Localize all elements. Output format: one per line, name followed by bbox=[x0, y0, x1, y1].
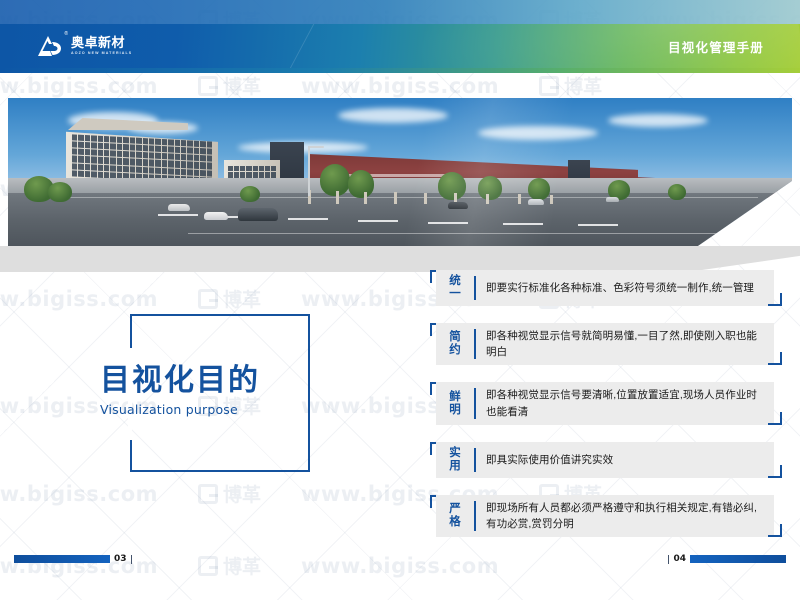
bracket-bottom-right-icon bbox=[768, 524, 782, 537]
gray-divider-band bbox=[0, 246, 800, 272]
list-item[interactable]: 统 一 即要实行标准化各种标准、色彩符号须统一制作,统一管理 bbox=[430, 270, 782, 306]
photo-highlight-overlay bbox=[8, 98, 792, 246]
watermark-brand-cn: 博革 bbox=[223, 72, 261, 99]
list-item-text: 即具实际使用价值讲究实效 bbox=[486, 452, 613, 468]
watermark-url: www.bigiss.com bbox=[0, 74, 158, 98]
watermark-brand: 博革 bbox=[198, 285, 261, 312]
watermark-brand-cn: 博革 bbox=[223, 285, 261, 312]
key-divider bbox=[474, 329, 476, 360]
watermark-brand: 博革 bbox=[198, 72, 261, 99]
page-number-left: 03 bbox=[114, 554, 127, 564]
bracket-bottom-right-icon bbox=[768, 465, 782, 478]
watermark-brand-cn: 博革 bbox=[564, 72, 602, 99]
list-item-key: 鲜 明 bbox=[440, 391, 470, 417]
page-bar-right bbox=[690, 555, 786, 563]
list-item-text: 即各种视觉显示信号要清晰,位置放置适宜,现场人员作业时也能看清 bbox=[486, 387, 764, 420]
page-subtitle: Visualization purpose bbox=[100, 402, 350, 417]
page-title: 目视化目的 bbox=[100, 366, 350, 396]
title-text-group: 目视化目的 Visualization purpose bbox=[100, 366, 350, 417]
bracket-bottom-right-icon bbox=[768, 412, 782, 425]
list-item-key: 简 约 bbox=[440, 331, 470, 357]
watermark-url: www.bigiss.com bbox=[301, 74, 499, 98]
list-item[interactable]: 鲜 明 即各种视觉显示信号要清晰,位置放置适宜,现场人员作业时也能看清 bbox=[430, 382, 782, 425]
trademark-icon: ® bbox=[64, 31, 68, 37]
logo-name-en: AOZO NEW MATERIALS bbox=[71, 52, 132, 56]
page-number-left-group: 03 bbox=[14, 554, 132, 564]
list-item-key: 实 用 bbox=[440, 447, 470, 473]
key-divider bbox=[474, 388, 476, 419]
watermark-url: www.bigiss.com bbox=[0, 287, 158, 311]
key-divider bbox=[474, 448, 476, 472]
aozo-logo-icon: ® bbox=[36, 34, 64, 58]
page-footer: 03 04 bbox=[0, 542, 800, 600]
watermark-row: www.bigiss.com 博革 www.bigiss.com 博革 bbox=[0, 72, 800, 99]
logo-name-cn: 奥卓新材 bbox=[71, 36, 132, 49]
watermark-brand: 博革 bbox=[539, 72, 602, 99]
hero-photo bbox=[8, 98, 792, 246]
brand-g-icon bbox=[539, 76, 559, 96]
bracket-bottom-right-icon bbox=[768, 352, 782, 365]
brand-g-icon bbox=[198, 289, 218, 309]
list-item-text: 即各种视觉显示信号就简明易懂,一目了然,即使刚入职也能明白 bbox=[486, 328, 764, 361]
section-title-block: 目视化目的 Visualization purpose bbox=[130, 314, 310, 472]
list-item[interactable]: 严 格 即现场所有人员都必须严格遵守和执行相关规定,有错必纠,有功必赏,赏罚分明 bbox=[430, 495, 782, 538]
page-number-right-group: 04 bbox=[668, 554, 786, 564]
page-bar-left bbox=[14, 555, 110, 563]
list-item-key: 严 格 bbox=[440, 503, 470, 529]
logo-wordmark: 奥卓新材 AOZO NEW MATERIALS bbox=[71, 36, 132, 56]
list-item-key: 统 一 bbox=[440, 275, 470, 301]
page-number-right: 04 bbox=[673, 554, 686, 564]
list-item[interactable]: 简 约 即各种视觉显示信号就简明易懂,一目了然,即使刚入职也能明白 bbox=[430, 323, 782, 366]
list-item-text: 即现场所有人员都必须严格遵守和执行相关规定,有错必纠,有功必赏,赏罚分明 bbox=[486, 500, 764, 533]
page-tick-icon bbox=[668, 555, 669, 564]
header-top-strip bbox=[0, 0, 800, 24]
page-tick-icon bbox=[131, 555, 132, 564]
watermark-url: www.bigiss.com bbox=[0, 482, 158, 506]
slide-page: www.bigiss.com 博革 www.bigiss.com 博革 www.… bbox=[0, 0, 800, 600]
watermark-brand-cn: 博革 bbox=[223, 480, 261, 507]
brand-logo[interactable]: ® 奥卓新材 AOZO NEW MATERIALS bbox=[0, 34, 132, 58]
header-bottom-strip bbox=[0, 68, 800, 73]
key-divider bbox=[474, 501, 476, 532]
watermark-brand: 博革 bbox=[198, 480, 261, 507]
brand-g-icon bbox=[198, 484, 218, 504]
key-divider bbox=[474, 276, 476, 300]
page-header: ® 奥卓新材 AOZO NEW MATERIALS 目视化管理手册 bbox=[0, 24, 800, 68]
list-item[interactable]: 实 用 即具实际使用价值讲究实效 bbox=[430, 442, 782, 478]
list-item-text: 即要实行标准化各种标准、色彩符号须统一制作,统一管理 bbox=[486, 280, 754, 296]
purpose-list: 统 一 即要实行标准化各种标准、色彩符号须统一制作,统一管理 简 约 即各种视觉… bbox=[430, 270, 782, 554]
bracket-bottom-right-icon bbox=[768, 293, 782, 306]
manual-title: 目视化管理手册 bbox=[668, 37, 800, 56]
brand-g-icon bbox=[198, 76, 218, 96]
